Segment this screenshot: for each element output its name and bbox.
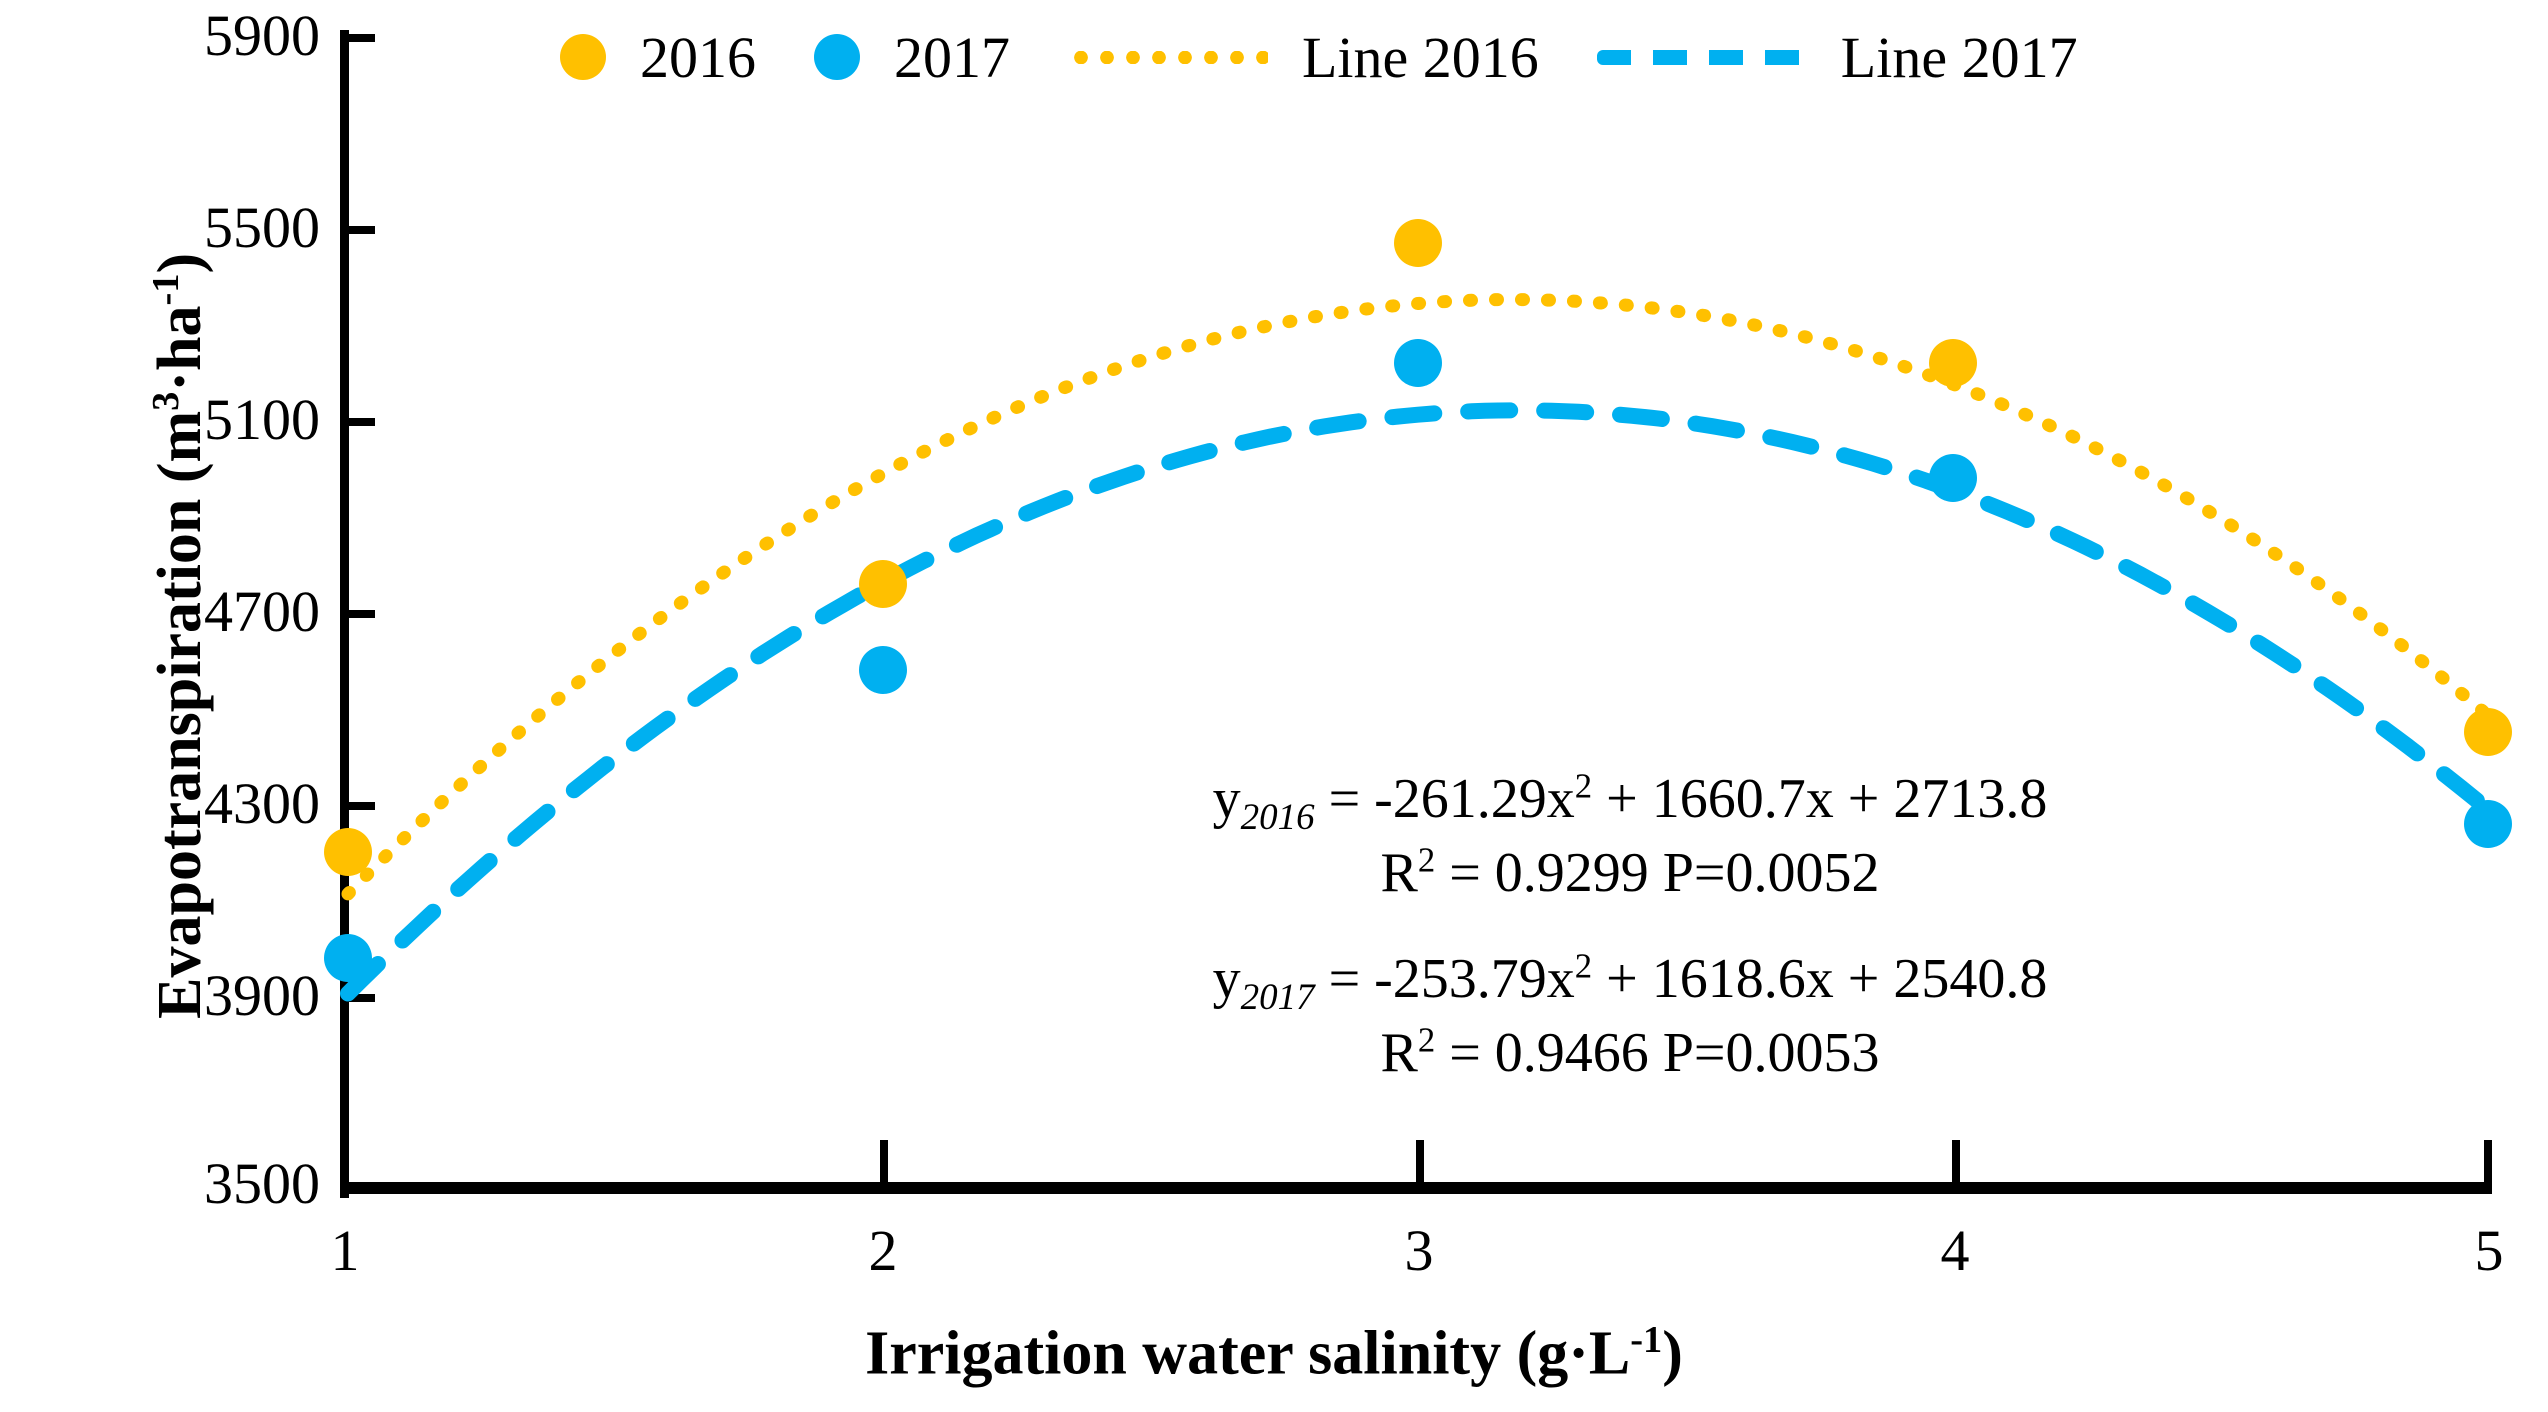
- y-tick-mark: [349, 226, 375, 234]
- stats-sup-2016: 2: [1418, 841, 1435, 880]
- data-point-2016: [1394, 219, 1442, 267]
- legend-label-line-2016: Line 2016: [1302, 24, 1539, 91]
- stats-tail-2016: = 0.9299 P=0.0052: [1435, 842, 1879, 904]
- legend-marker-dotted-line-icon: [1068, 51, 1268, 64]
- x-tick-mark: [1952, 1140, 1960, 1184]
- equation-line-2016: y2016 = -261.29x2 + 1660.7x + 2713.8: [1030, 765, 2230, 839]
- data-point-2017: [1929, 454, 1977, 502]
- legend-item-2016[interactable]: 2016: [560, 24, 814, 91]
- legend-marker-circle-2017-icon: [814, 34, 860, 80]
- data-point-2016: [324, 828, 372, 876]
- y-tick-mark: [349, 1182, 375, 1190]
- data-point-2017: [324, 934, 372, 982]
- legend-item-line-2017[interactable]: Line 2017: [1597, 24, 2136, 91]
- stats-line-2017: R2 = 0.9466 P=0.0053: [1030, 1019, 2230, 1087]
- y-tick-label-5900: 5900: [20, 7, 320, 65]
- y-tick-label-3500: 3500: [20, 1155, 320, 1213]
- stats-r-2017: R: [1380, 1022, 1417, 1084]
- x-axis-title: Irrigation water salinity (g·L-1): [0, 1318, 2548, 1390]
- legend-label-2017: 2017: [894, 24, 1010, 91]
- data-point-2017: [1394, 339, 1442, 387]
- x-tick-label-2: 2: [803, 1222, 963, 1280]
- y-axis-title-main: Evapotranspiration (m: [146, 411, 214, 1019]
- y-tick-label-5100: 5100: [20, 391, 320, 449]
- stats-r-2016: R: [1380, 842, 1417, 904]
- data-point-2016: [2464, 708, 2512, 756]
- equation-sub-2017: 2017: [1241, 976, 1315, 1017]
- equation-line-2017: y2017 = -253.79x2 + 1618.6x + 2540.8: [1030, 945, 2230, 1019]
- stats-tail-2017: = 0.9466 P=0.0053: [1435, 1022, 1879, 1084]
- x-tick-mark: [1416, 1140, 1424, 1184]
- data-point-2016: [859, 560, 907, 608]
- y-axis-line: [340, 30, 349, 1198]
- x-tick-label-5: 5: [2409, 1222, 2548, 1280]
- x-tick-mark: [880, 1140, 888, 1184]
- y-tick-mark: [349, 418, 375, 426]
- x-axis-title-end: ): [1662, 1320, 1683, 1388]
- stats-line-2016: R2 = 0.9299 P=0.0052: [1030, 839, 2230, 907]
- data-point-2017: [859, 646, 907, 694]
- legend-item-line-2016[interactable]: Line 2016: [1068, 24, 1597, 91]
- x-tick-mark: [2484, 1140, 2492, 1184]
- x-tick-label-3: 3: [1339, 1222, 1499, 1280]
- legend-marker-dashed-line-icon: [1597, 50, 1807, 65]
- data-point-2016: [1929, 339, 1977, 387]
- equation-sub-2016: 2016: [1241, 796, 1315, 837]
- x-tick-label-4: 4: [1875, 1222, 2035, 1280]
- y-tick-mark: [349, 34, 375, 42]
- y-tick-mark: [349, 610, 375, 618]
- x-tick-label-1: 1: [265, 1222, 425, 1280]
- y-tick-mark: [349, 802, 375, 810]
- data-point-2017: [2464, 800, 2512, 848]
- legend-label-line-2017: Line 2017: [1841, 24, 2078, 91]
- legend-item-2017[interactable]: 2017: [814, 24, 1068, 91]
- equation-tail-2016: + 1660.7x + 2713.8: [1592, 768, 2047, 830]
- y-tick-label-3900: 3900: [20, 967, 320, 1025]
- chart-figure: Evapotranspiration (m3·ha-1) Irrigation …: [0, 0, 2548, 1412]
- equation-tail-2017: + 1618.6x + 2540.8: [1592, 948, 2047, 1010]
- legend-marker-circle-2016-icon: [560, 34, 606, 80]
- y-axis-title-mid: ·ha: [146, 305, 214, 391]
- equation-y-2017: y: [1213, 948, 1241, 1010]
- chart-legend: 2016 2017 Line 2016 Line 2017: [560, 22, 2136, 92]
- stats-sup-2017: 2: [1418, 1021, 1435, 1060]
- y-tick-label-4700: 4700: [20, 583, 320, 641]
- legend-label-2016: 2016: [640, 24, 756, 91]
- y-tick-label-5500: 5500: [20, 199, 320, 257]
- equation-body-2017: = -253.79x: [1315, 948, 1575, 1010]
- equation-sup-2017: 2: [1575, 946, 1592, 985]
- y-axis-title-sup-inverse: -1: [145, 273, 187, 305]
- equation-sup-2016: 2: [1575, 766, 1592, 805]
- y-tick-label-4300: 4300: [20, 775, 320, 833]
- y-tick-mark: [349, 994, 375, 1002]
- fitted-curves: [0, 0, 2548, 1412]
- x-axis-title-main: Irrigation water salinity (g·L: [865, 1320, 1630, 1388]
- equation-y-2016: y: [1213, 768, 1241, 830]
- equation-block-2016: y2016 = -261.29x2 + 1660.7x + 2713.8 R2 …: [1030, 765, 2230, 908]
- equation-body-2016: = -261.29x: [1315, 768, 1575, 830]
- equation-block-2017: y2017 = -253.79x2 + 1618.6x + 2540.8 R2 …: [1030, 945, 2230, 1088]
- x-axis-title-sup-inverse: -1: [1630, 1319, 1662, 1361]
